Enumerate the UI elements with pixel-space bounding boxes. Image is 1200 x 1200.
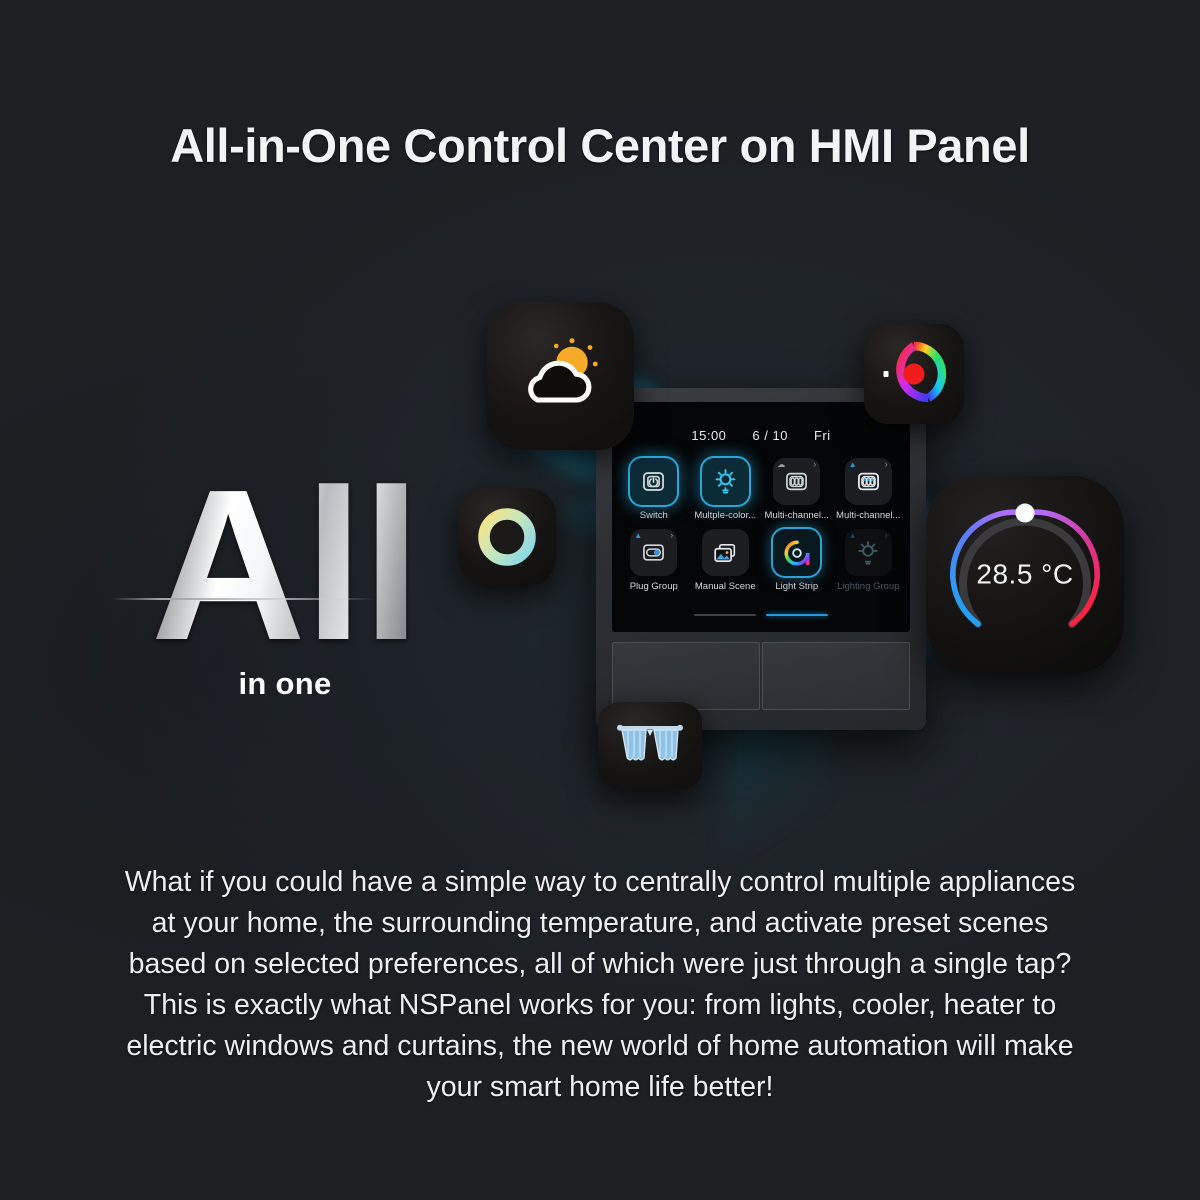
thermostat-dial[interactable]: 28.5 °C <box>926 476 1124 674</box>
cloud-icon: ▲ <box>634 532 642 540</box>
single-switch-icon <box>640 468 667 495</box>
tile-icon-wrap[interactable] <box>702 458 749 505</box>
all-in-one-lockup: All in one <box>120 470 450 702</box>
three-gang-switch-icon <box>783 468 810 495</box>
page-indicator[interactable] <box>612 614 910 616</box>
logo-strike-line <box>112 598 374 600</box>
body-paragraph: What if you could have a simple way to c… <box>110 862 1090 1108</box>
tile-label: Manual Scene <box>695 581 756 592</box>
logo-all-text: All <box>120 470 450 660</box>
tile-icon-wrap[interactable] <box>630 458 677 505</box>
tile-multi-channel-1[interactable]: ☁ › Multi-channel... <box>761 458 833 521</box>
tile-multi-channel-2[interactable]: ▲ › Multi-channel... <box>833 458 905 521</box>
color-temperature-ring-icon <box>473 503 541 571</box>
tile-manual-scene[interactable]: Manual Scene <box>690 529 762 592</box>
status-bar: 15:00 6 / 10 Fri <box>612 428 910 443</box>
scene-photos-icon <box>711 539 739 567</box>
hardware-button-row <box>612 642 910 710</box>
tile-icon-wrap[interactable]: ▲ › <box>630 529 677 576</box>
tile-label: Switch <box>640 510 668 521</box>
tile-switch[interactable]: Switch <box>618 458 690 521</box>
toggle-switch-icon <box>640 539 667 566</box>
tile-label: Multi-channel... <box>765 510 829 521</box>
status-date: 6 / 10 <box>752 428 788 443</box>
tile-icon-wrap[interactable]: ▲ › <box>845 458 892 505</box>
color-bulb-icon <box>711 467 740 496</box>
tile-icon-wrap[interactable] <box>773 529 820 576</box>
three-gang-switch-on-icon <box>855 468 882 495</box>
page-dot-1[interactable] <box>694 614 756 616</box>
bubble-weather[interactable] <box>486 302 634 450</box>
tile-multiple-color[interactable]: Multple-color... <box>690 458 762 521</box>
tile-lighting-group[interactable]: ▲ › Lighting Group <box>833 529 905 592</box>
status-time: 15:00 <box>691 428 726 443</box>
hardware-button-right[interactable] <box>762 642 910 710</box>
lighting-group-icon <box>854 539 882 567</box>
tile-label: Multi-channel... <box>836 510 900 521</box>
chevron-right-icon[interactable]: › <box>885 531 888 540</box>
wifi-icon: ☁ <box>777 461 785 469</box>
chevron-right-icon[interactable]: › <box>670 531 673 540</box>
tile-label: Light Strip <box>775 581 818 592</box>
thermostat-value: 28.5 °C <box>926 558 1124 590</box>
tile-icon-wrap[interactable]: ☁ › <box>773 458 820 505</box>
chevron-right-icon[interactable]: › <box>813 460 816 469</box>
rgb-color-wheel-icon <box>878 338 950 410</box>
cloud-icon: ▲ <box>849 461 857 469</box>
tile-icon-wrap[interactable]: ▲ › <box>845 529 892 576</box>
panel-screen: 15:00 6 / 10 Fri Switch <box>612 402 910 632</box>
bubble-color-temperature[interactable] <box>458 488 556 586</box>
tile-label: Multple-color... <box>694 510 756 521</box>
page-dot-2[interactable] <box>766 614 828 616</box>
tile-plug-group[interactable]: ▲ › Plug Group <box>618 529 690 592</box>
curtain-icon <box>614 720 686 772</box>
poster-stage: All-in-One Control Center on HMI Panel A… <box>0 0 1200 1200</box>
bubble-curtain[interactable] <box>598 702 702 790</box>
tile-label: Plug Group <box>630 581 678 592</box>
page-title: All-in-One Control Center on HMI Panel <box>0 118 1200 173</box>
tile-label: Lighting Group <box>837 581 899 592</box>
weather-cloud-sun-icon <box>512 328 608 424</box>
nspanel-device: 15:00 6 / 10 Fri Switch <box>596 388 926 730</box>
tile-light-strip[interactable]: Light Strip <box>761 529 833 592</box>
bubble-rgb-wheel[interactable] <box>864 324 964 424</box>
hardware-button-left[interactable] <box>612 642 760 710</box>
tile-grid: Switch <box>618 458 904 592</box>
rgb-strip-icon <box>782 538 812 568</box>
chevron-right-icon[interactable]: › <box>885 460 888 469</box>
cloud-icon: ▲ <box>849 532 857 540</box>
status-weekday: Fri <box>814 428 831 443</box>
tile-icon-wrap[interactable] <box>702 529 749 576</box>
